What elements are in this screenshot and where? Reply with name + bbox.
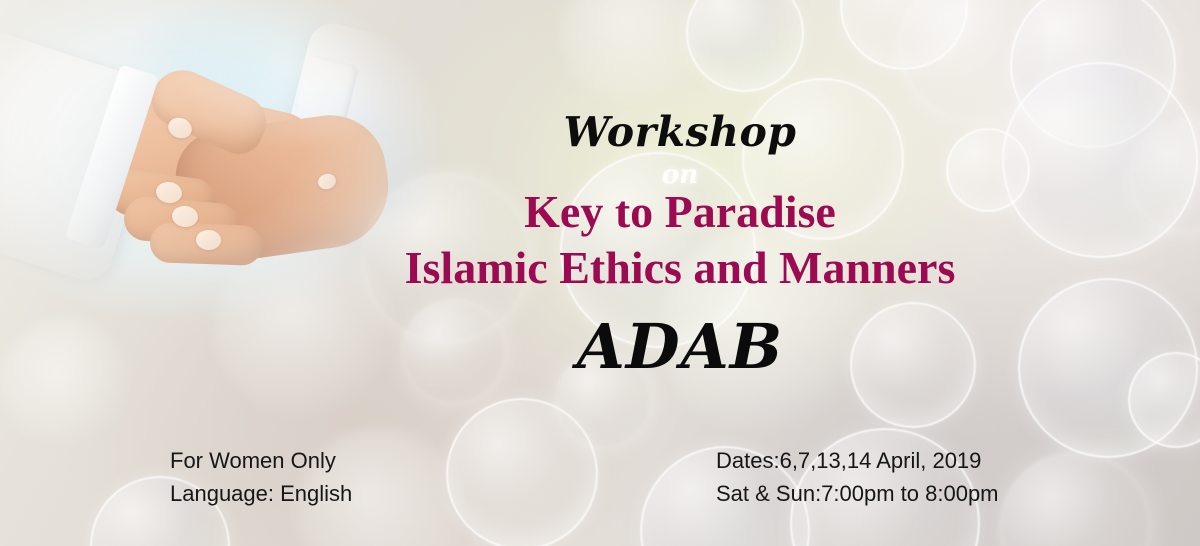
- audience-line: For Women Only: [170, 444, 352, 477]
- bokeh-bubble: [900, 0, 1050, 120]
- bokeh-bubble: [446, 398, 598, 546]
- schedule-line: Sat & Sun:7:00pm to 8:00pm: [716, 477, 999, 510]
- bokeh-bubble: [560, 0, 710, 110]
- handshake-photo: [0, 0, 470, 330]
- bokeh-bubble: [946, 128, 1030, 212]
- bokeh-bubble: [1002, 62, 1198, 258]
- bokeh-bubble: [560, 152, 756, 348]
- bokeh-bubble: [1130, 120, 1200, 232]
- bokeh-bubble: [556, 352, 652, 448]
- bokeh-bubble: [742, 78, 904, 240]
- bokeh-bubble: [840, 0, 968, 70]
- bokeh-bubble: [1128, 352, 1200, 448]
- bokeh-bubble: [0, 318, 130, 448]
- audience-details: For Women Only Language: English: [170, 444, 352, 510]
- bokeh-bubble: [686, 0, 804, 92]
- bokeh-bubble: [850, 302, 976, 428]
- schedule-details: Dates:6,7,13,14 April, 2019 Sat & Sun:7:…: [716, 444, 999, 510]
- bokeh-bubble: [1010, 0, 1176, 148]
- photo-glow: [0, 0, 470, 330]
- dates-line: Dates:6,7,13,14 April, 2019: [716, 444, 999, 477]
- event-banner: on Workshop Key to Paradise Islamic Ethi…: [0, 0, 1200, 546]
- bokeh-bubble: [1000, 452, 1150, 546]
- bokeh-bubble: [1018, 278, 1198, 458]
- bokeh-bubble: [660, 226, 870, 436]
- language-line: Language: English: [170, 477, 352, 510]
